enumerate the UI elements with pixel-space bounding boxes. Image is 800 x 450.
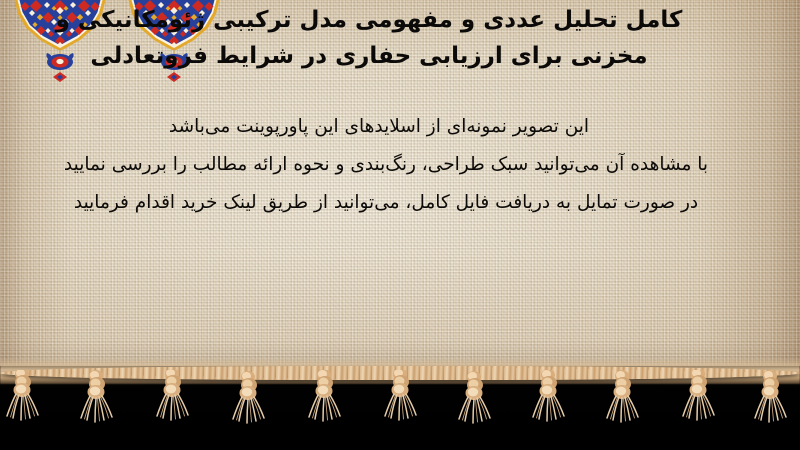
- slide-canvas: کامل تحلیل عددی و مفهومی مدل ترکیبی ژئوم…: [0, 0, 800, 450]
- slide-title: کامل تحلیل عددی و مفهومی مدل ترکیبی ژئوم…: [0, 2, 800, 74]
- slide-title-line-2: مخزنی برای ارزیابی حفاری در شرایط فروتعا…: [12, 38, 782, 74]
- slide-body: این تصویر نمونه‌ای از اسلایدهای این پاور…: [0, 108, 800, 222]
- carpet-fringe-tassels: [0, 370, 800, 450]
- slide-title-line-1: کامل تحلیل عددی و مفهومی مدل ترکیبی ژئوم…: [12, 2, 782, 38]
- slide-body-line-2: با مشاهده آن می‌توانید سبک طراحی، رنگ‌بن…: [0, 146, 776, 184]
- slide-body-line-3: در صورت تمایل به دریافت فایل کامل، می‌تو…: [0, 184, 776, 222]
- slide-body-line-1: این تصویر نمونه‌ای از اسلایدهای این پاور…: [0, 108, 776, 146]
